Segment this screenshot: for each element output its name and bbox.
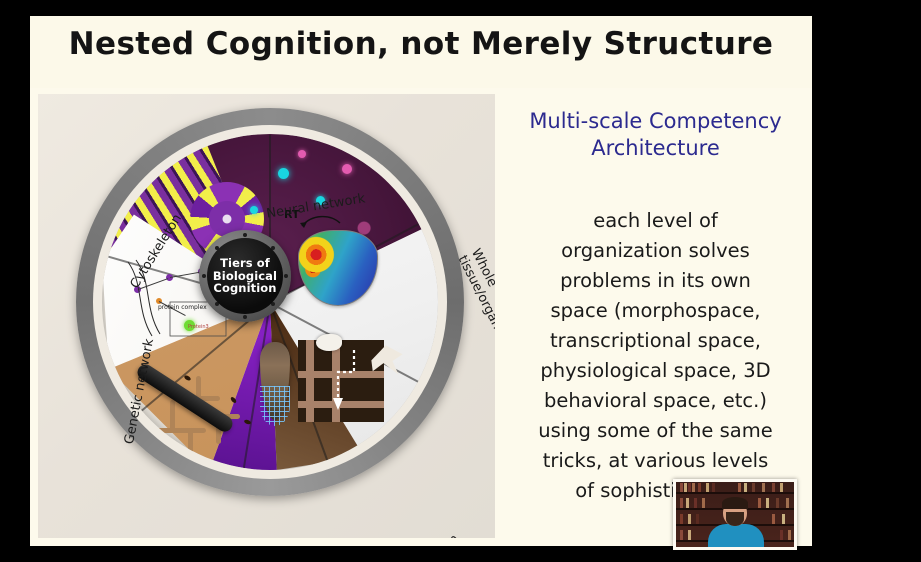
body-paragraph: each level of organization solves proble… [503,206,808,506]
neuron-node [250,206,258,214]
slide: Nested Cognition, not Merely Structure [30,16,812,546]
center-hub-label: Tiers of Biological Cognition [213,257,277,295]
presenter-webcam-overlay[interactable] [673,479,797,550]
presenter-torso [708,524,764,547]
presenter-beard [726,512,744,526]
neuron-node [298,150,306,158]
label-whole-organism: Whole organism [399,492,491,538]
presentation-screen: Nested Cognition, not Merely Structure [0,0,921,562]
ant [244,419,252,425]
ant [183,375,191,382]
neuron-node [278,168,289,179]
section-heading: Multi-scale Competency Architecture [503,108,808,162]
protein-label: Protein3 [188,324,209,330]
page-title: Nested Cognition, not Merely Structure [30,26,812,62]
webcam-video-feed[interactable] [676,482,794,547]
maze-path-arrow-icon [324,346,364,416]
ant [230,396,238,404]
protein-complex-label: protein complex [158,304,207,311]
center-hub: Tiers of Biological Cognition [199,230,291,322]
figure-image: RT [38,94,495,538]
center-hub-inner: Tiers of Biological Cognition [207,238,283,314]
presenter-hair [722,497,748,509]
planarian-grid-overlay [260,386,290,426]
slide-title-bar: Nested Cognition, not Merely Structure [30,16,812,88]
neuron-node [342,164,352,174]
